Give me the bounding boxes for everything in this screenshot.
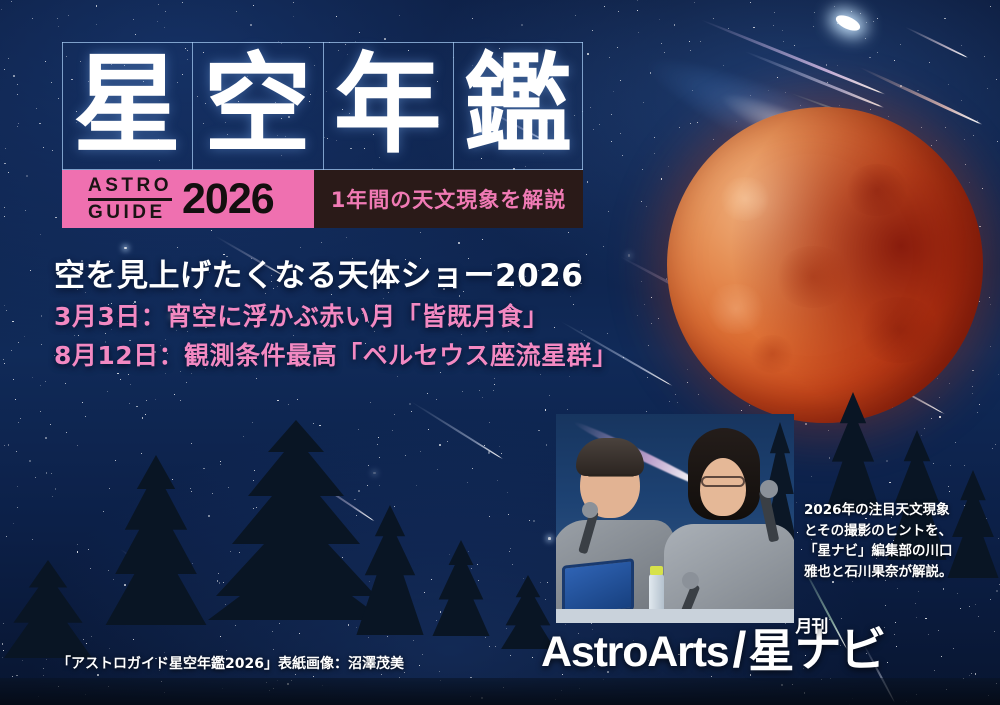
bottle-cap-icon [650, 566, 663, 575]
tagline-text: 1年間の天文現象を解説 [331, 184, 567, 214]
caption-line: 雅也と石川果奈が解説。 [804, 562, 992, 583]
title-char-cell: 空 [192, 42, 322, 170]
title-char-cell: 年 [323, 42, 453, 170]
blood-moon-icon [667, 107, 983, 423]
logo-brand: AstroArts [541, 631, 729, 674]
caption-line: 「星ナビ」編集部の川口 [804, 541, 992, 562]
presenters-photo [556, 414, 794, 623]
astro-guide-badge: ASTRO GUIDE 2026 [62, 170, 314, 228]
presenter-right-glasses [701, 476, 745, 487]
presenter-left-glasses [588, 474, 634, 477]
caption-line: とその撮影のヒントを、 [804, 521, 992, 542]
title-char-cell: 鑑 [453, 42, 583, 170]
astroarts-logo: AstroArts / 星 ナビ 月刊 [541, 620, 884, 674]
presenter-left-hair [576, 438, 644, 476]
photo-caption: 2026年の注目天文現象 とその撮影のヒントを、 「星ナビ」編集部の川口 雅也と… [804, 500, 992, 582]
title-char-cell: 星 [62, 42, 192, 170]
badge-divider [88, 198, 172, 201]
poster-canvas: 星 空 年 鑑 ASTRO GUIDE 2026 1年間の天文現象を解説 空を見… [0, 0, 1000, 705]
caption-line: 2026年の注目天文現象 [804, 500, 992, 521]
tagline-box: 1年間の天文現象を解説 [314, 170, 583, 228]
headline: 空を見上げたくなる天体ショー2026 [54, 250, 583, 295]
title-char: 星 [73, 52, 181, 160]
title-char: 空 [203, 52, 311, 160]
event-line-1: 3月3日：宵空に浮かぶ赤い月「皆既月食」 [54, 297, 549, 333]
logo-gekkan: 月刊 [795, 612, 827, 637]
logo-separator: / [733, 627, 747, 675]
guide-label: GUIDE [88, 203, 172, 222]
logo-magazine: 星 ナビ 月刊 [748, 627, 884, 674]
image-credit: 「アストロガイド星空年鑑2026」表紙画像：沼澤茂美 [57, 653, 404, 673]
presenter-left-mic-head [582, 502, 598, 518]
astro-label: ASTRO [88, 176, 172, 195]
presenter-right-mic-2-head [682, 572, 699, 589]
presenter-right-mic-head [760, 480, 778, 498]
poster-title: 星 空 年 鑑 [62, 42, 583, 170]
badge-year: 2026 [182, 175, 274, 224]
astro-guide-stack: ASTRO GUIDE [88, 176, 172, 222]
presenter-right-face [700, 458, 746, 516]
event-line-2: 8月12日：観測条件最高「ペルセウス座流星群」 [54, 336, 618, 372]
title-char: 年 [334, 52, 442, 160]
logo-hoshi: 星 [748, 628, 794, 674]
badge-row: ASTRO GUIDE 2026 1年間の天文現象を解説 [62, 170, 583, 228]
title-char: 鑑 [464, 52, 572, 160]
